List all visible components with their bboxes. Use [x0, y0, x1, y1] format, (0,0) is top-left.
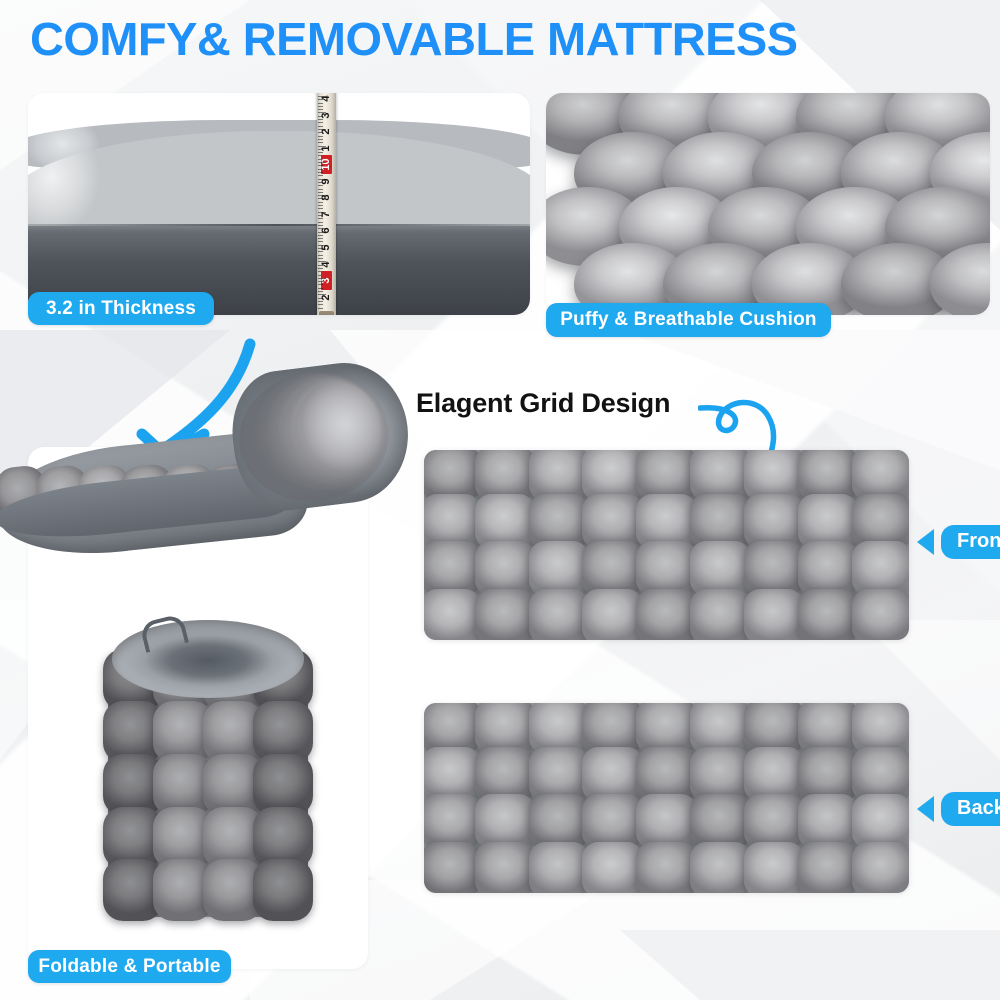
tape-tick	[318, 232, 323, 233]
tape-tick	[318, 248, 323, 249]
grid-tuft-cell	[529, 589, 589, 640]
tape-measure: 43211098765432	[317, 93, 336, 315]
tape-tick	[318, 96, 326, 97]
tape-tick	[318, 112, 326, 113]
grid-tuft-cell	[582, 589, 642, 640]
tape-tick	[318, 281, 323, 282]
tape-tick	[318, 251, 323, 252]
grid-tuft-cell	[475, 842, 535, 893]
tape-tick	[318, 261, 326, 262]
tape-tick	[318, 162, 326, 163]
grid-tuft-cell	[636, 842, 696, 893]
tape-tick	[318, 245, 326, 246]
tape-tick	[318, 116, 323, 117]
page-title: COMFY& REMOVABLE MATTRESS	[30, 12, 989, 66]
badge-cushion: Puffy & Breathable Cushion	[546, 303, 831, 337]
bundle-tuft	[253, 859, 313, 921]
grid-tuft-cell	[852, 842, 909, 893]
tape-tick	[318, 298, 323, 299]
label-back: Back	[917, 792, 1000, 826]
grid-tuft-cell	[798, 589, 858, 640]
tape-tick	[318, 304, 323, 305]
tape-tick	[318, 165, 323, 166]
tape-tick	[318, 149, 323, 150]
tape-tick	[318, 284, 323, 285]
grid-tuft-cell	[690, 589, 750, 640]
tape-tick	[318, 294, 326, 295]
tape-tick	[318, 99, 323, 100]
label-front: Front	[917, 525, 1000, 559]
product-infographic-poster: COMFY& REMOVABLE MATTRESS 43211098765432…	[0, 0, 1000, 1000]
tape-tick	[318, 182, 323, 183]
grid-surface-back	[424, 703, 909, 893]
tape-tick	[318, 308, 323, 309]
grid-tuft-cell	[424, 842, 481, 893]
grid-surface-front	[424, 450, 909, 640]
grid-tuft-cell	[744, 842, 804, 893]
grid-tuft-cell	[529, 842, 589, 893]
panel-closeup-card	[546, 93, 990, 315]
grid-tuft-cell	[424, 589, 481, 640]
tape-tick	[318, 212, 326, 213]
partially-rolled-mattress	[0, 358, 410, 588]
grid-tuft-cell	[798, 842, 858, 893]
tape-tick	[318, 195, 326, 196]
tape-tick	[318, 198, 323, 199]
bundle-top-opening	[112, 620, 304, 698]
tufted-cushion-closeup-photo	[546, 93, 990, 315]
tape-tick	[318, 103, 323, 104]
badge-thickness: 3.2 in Thickness	[28, 292, 214, 325]
tape-tick	[318, 146, 326, 147]
tape-tick	[318, 218, 323, 219]
tape-tick	[318, 278, 326, 279]
tape-tick	[318, 301, 323, 302]
front-pill-label: Front	[941, 525, 1000, 559]
tape-tick	[318, 152, 323, 153]
tape-tick	[318, 136, 323, 137]
tape-tick	[318, 268, 323, 269]
tape-end-clip	[319, 311, 334, 315]
triangle-left-icon	[917, 529, 934, 555]
badge-foldable: Foldable & Portable	[28, 950, 231, 983]
rolled-mattress-cylinder	[225, 356, 416, 516]
tape-tick	[318, 119, 323, 120]
triangle-left-icon	[917, 796, 934, 822]
grid-tuft-cell	[582, 842, 642, 893]
tape-tick	[318, 129, 326, 130]
rolled-mattress-bundle	[108, 612, 308, 917]
tape-tick	[318, 215, 323, 216]
tape-tick	[318, 169, 323, 170]
tape-tick	[318, 185, 323, 186]
grid-tuft-cell	[690, 842, 750, 893]
tape-tick	[318, 132, 323, 133]
back-pill-label: Back	[941, 792, 1000, 826]
grid-tuft-cell	[636, 589, 696, 640]
grid-design-heading: Elagent Grid Design	[416, 388, 670, 419]
tape-tick	[318, 265, 323, 266]
tape-tick	[318, 202, 323, 203]
tape-tick	[318, 228, 326, 229]
tape-tick	[318, 179, 326, 180]
grid-tuft-cell	[852, 589, 909, 640]
tape-tick	[318, 235, 323, 236]
panel-side-view-card: 43211098765432	[28, 93, 530, 315]
grid-tuft-cell	[744, 589, 804, 640]
grid-tuft-cell	[475, 589, 535, 640]
